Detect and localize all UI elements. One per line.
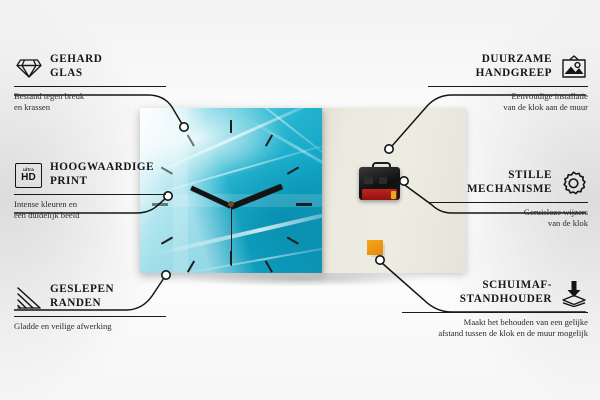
feature-desc-line1: Intense kleuren en [14, 199, 166, 210]
feature-title-line2: RANDEN [50, 296, 166, 310]
feature-title: STILLE [428, 168, 552, 182]
feature-desc-line2: van de klok [428, 218, 588, 229]
mechanism-body [359, 167, 400, 200]
feature-title-line2: HANDGREEP [428, 66, 552, 80]
feature-geslepen-randen: GESLEPEN RANDEN Gladde en veilige afwerk… [14, 282, 166, 332]
divider [428, 86, 588, 87]
clock-mechanism [359, 162, 400, 200]
clock-tick [230, 120, 232, 133]
divider [402, 312, 588, 313]
divider [14, 194, 166, 195]
feature-desc-line2: en krassen [14, 102, 166, 113]
feature-title-line2: GLAS [50, 66, 166, 80]
infographic-canvas: GEHARD GLAS Bestand tegen breuk en krass… [0, 0, 600, 400]
divider [14, 316, 166, 317]
mechanism-slot-left [364, 177, 373, 184]
feature-title-line2: MECHANISME [428, 182, 552, 196]
battery-positive-terminal [391, 191, 396, 199]
divider [428, 202, 588, 203]
feature-desc-line2: een duidelijk beeld [14, 210, 166, 221]
feature-title: HOOGWAARDIGE [50, 160, 166, 174]
press-down-icon [559, 279, 588, 308]
glass-wall-clock [140, 108, 322, 273]
diamond-icon [14, 53, 43, 82]
hatched-edge-icon [14, 283, 43, 312]
ultra-hd-icon-main: HD [21, 173, 36, 183]
feature-hoogwaardige-print: ultra HD HOOGWAARDIGE PRINT Intense kleu… [14, 160, 166, 221]
feature-desc-line1: Bestand tegen breuk [14, 91, 166, 102]
feature-desc-line2: van de klok aan de muur [428, 102, 588, 113]
picture-frame-icon [559, 53, 588, 82]
clock-center-pin [228, 201, 234, 207]
feature-desc-line1: Eenvoudige installatie [428, 91, 588, 102]
divider [14, 86, 166, 87]
feature-schuimafstandhouder: SCHUIMAF- STANDHOUDER Maakt het behouden… [402, 278, 588, 339]
feature-title-line2: STANDHOUDER [402, 292, 552, 306]
feature-duurzame-handgreep: DUURZAME HANDGREEP Eenvoudige installati… [428, 52, 588, 113]
feature-desc-line2: afstand tussen de klok en de muur mogeli… [402, 328, 588, 339]
clock-tick [296, 203, 312, 206]
feature-desc-line1: Gladde en veilige afwerking [14, 321, 166, 332]
feature-title: GESLEPEN [50, 282, 166, 296]
mechanism-slot-right [379, 177, 387, 184]
feature-title: DUURZAME [428, 52, 552, 66]
feature-stille-mechanisme: STILLE MECHANISME Geruisloze wijzers van… [428, 168, 588, 229]
foam-spacer-pad [367, 240, 383, 255]
feature-title-line2: PRINT [50, 174, 166, 188]
clock-second-hand [231, 204, 232, 266]
ultra-hd-icon: ultra HD [14, 161, 43, 190]
feature-desc-line1: Geruisloze wijzers [428, 207, 588, 218]
feature-title: SCHUIMAF- [402, 278, 552, 292]
feature-desc-line1: Maakt het behouden van een gelijke [402, 317, 588, 328]
battery [362, 189, 397, 200]
feature-gehard-glas: GEHARD GLAS Bestand tegen breuk en krass… [14, 52, 166, 113]
gear-icon [559, 169, 588, 198]
feature-title: GEHARD [50, 52, 166, 66]
